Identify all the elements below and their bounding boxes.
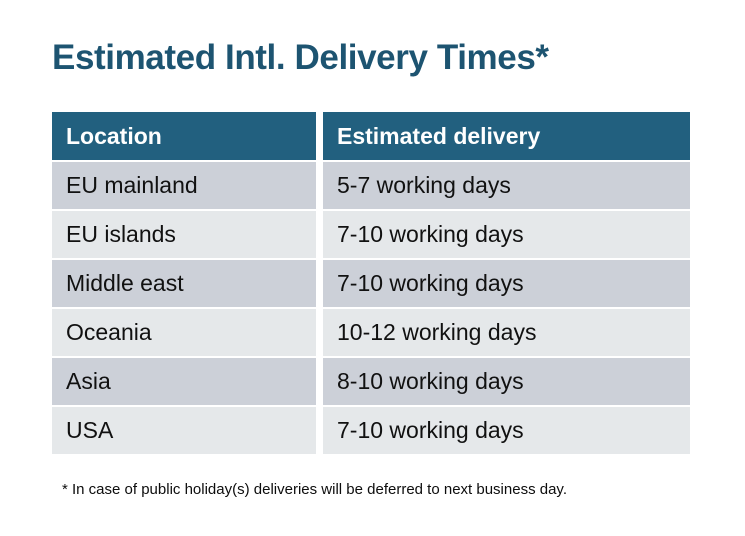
table-row: Middle east 7-10 working days <box>52 260 690 307</box>
footnote-text: * In case of public holiday(s) deliverie… <box>62 479 567 501</box>
table-header-row: Location Estimated delivery <box>52 112 690 160</box>
cell-estimated-delivery: 5-7 working days <box>323 162 690 209</box>
cell-location: EU islands <box>52 211 316 258</box>
table-row: Oceania 10-12 working days <box>52 309 690 356</box>
table-row: Asia 8-10 working days <box>52 358 690 405</box>
delivery-times-page: Estimated Intl. Delivery Times* Location… <box>0 0 745 536</box>
cell-location: EU mainland <box>52 162 316 209</box>
table-row: EU mainland 5-7 working days <box>52 162 690 209</box>
cell-estimated-delivery: 7-10 working days <box>323 211 690 258</box>
delivery-times-table: Location Estimated delivery EU mainland … <box>52 112 690 454</box>
cell-location: Asia <box>52 358 316 405</box>
cell-location: Middle east <box>52 260 316 307</box>
cell-estimated-delivery: 7-10 working days <box>323 407 690 454</box>
column-header-estimated-delivery: Estimated delivery <box>323 112 690 160</box>
table-row: USA 7-10 working days <box>52 407 690 454</box>
page-title: Estimated Intl. Delivery Times* <box>52 36 549 80</box>
cell-estimated-delivery: 7-10 working days <box>323 260 690 307</box>
cell-estimated-delivery: 10-12 working days <box>323 309 690 356</box>
cell-location: Oceania <box>52 309 316 356</box>
cell-location: USA <box>52 407 316 454</box>
cell-estimated-delivery: 8-10 working days <box>323 358 690 405</box>
table-row: EU islands 7-10 working days <box>52 211 690 258</box>
column-header-location: Location <box>52 112 316 160</box>
